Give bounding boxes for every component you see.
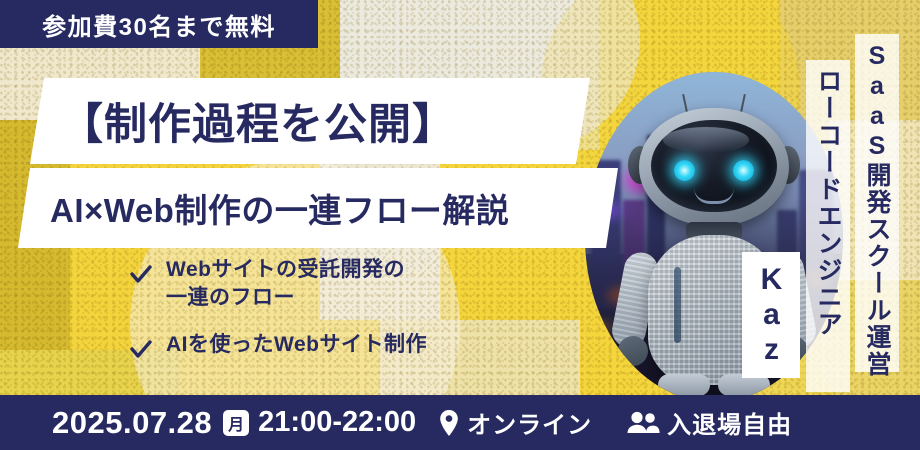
- list-item: Webサイトの受託開発の一連のフロー: [128, 256, 558, 313]
- speaker-name-panel: Kaz: [742, 252, 800, 378]
- location-pin-icon: [438, 409, 460, 437]
- event-location: オンライン: [467, 405, 592, 440]
- speaker-photo: [585, 72, 843, 402]
- event-attendance: 入退場自由: [667, 405, 792, 440]
- list-item: AIを使ったWebサイト制作: [128, 331, 558, 363]
- event-details-bar: 2025.07.28 月 21:00-22:00 オンライン 入退場自由: [0, 395, 920, 450]
- headline-line1: 【制作過程を公開】: [60, 90, 456, 152]
- headline-panel-secondary: AI×Web制作の一連フロー解説: [18, 168, 618, 248]
- robot-eye-right: [733, 160, 754, 181]
- credit-inner-text: ローコードエンジニア: [810, 68, 846, 338]
- credit-panel-outer: SaaS開発スクール運営: [855, 34, 899, 372]
- headline-panel-primary: 【制作過程を公開】: [30, 78, 590, 164]
- robot-eye-left: [674, 160, 695, 181]
- credit-outer-text: SaaS開発スクール運営: [859, 42, 895, 378]
- speaker-name: Kaz: [754, 263, 788, 368]
- check-icon: [128, 262, 154, 288]
- event-banner: SaaS開発スクール運営 ローコードエンジニア Kaz 参加費30名まで無料 【…: [0, 0, 920, 450]
- list-item-label: AIを使ったWebサイト制作: [166, 331, 427, 359]
- list-item-label: Webサイトの受託開発の一連のフロー: [166, 256, 405, 313]
- people-icon: [626, 410, 660, 436]
- free-admission-text: 参加費30名まで無料: [42, 7, 276, 42]
- event-date: 2025.07.28: [52, 405, 212, 441]
- check-icon: [128, 337, 154, 363]
- feature-list: Webサイトの受託開発の一連のフロー AIを使ったWebサイト制作: [128, 256, 558, 381]
- headline-line2: AI×Web制作の一連フロー解説: [50, 184, 509, 232]
- event-time: 21:00-22:00: [258, 406, 416, 439]
- free-admission-badge: 参加費30名まで無料: [0, 0, 318, 48]
- credit-panel-inner: ローコードエンジニア: [806, 60, 850, 392]
- day-of-week-badge: 月: [223, 410, 249, 436]
